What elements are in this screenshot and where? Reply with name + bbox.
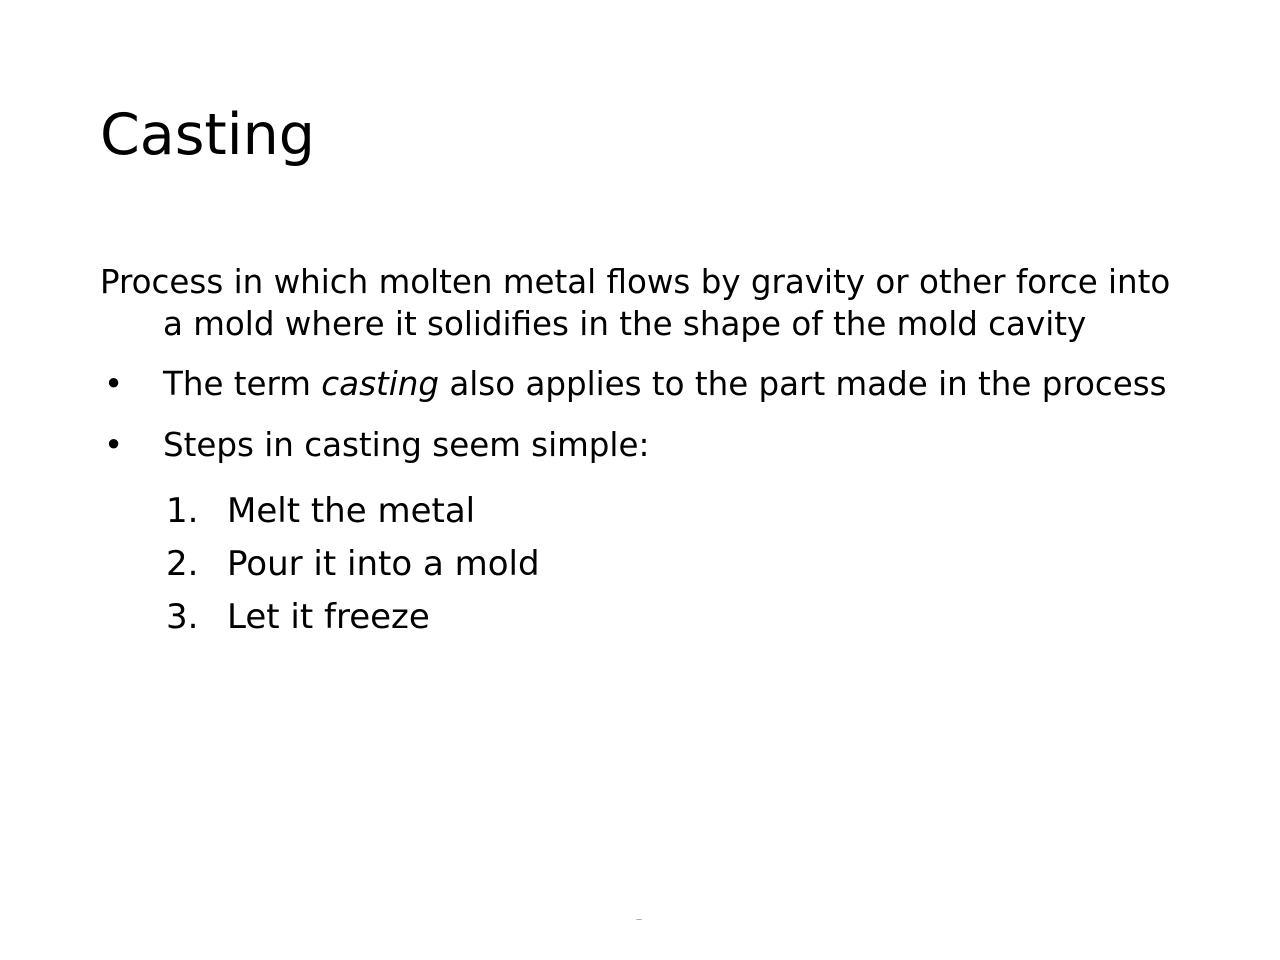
list-item: 2. Pour it into a mold xyxy=(100,538,1175,591)
list-item-italic-term: casting xyxy=(321,365,439,403)
body-paragraph: Process in which molten metal flows by g… xyxy=(100,262,1175,345)
slide-number-placeholder: – xyxy=(632,909,646,931)
list-item-label: The term casting also applies to the par… xyxy=(163,364,1175,406)
list-item: 3. Let it freeze xyxy=(100,591,1175,644)
page-title: Casting xyxy=(100,104,1180,168)
numbered-steps-list: 1. Melt the metal 2. Pour it into a mold… xyxy=(100,485,1175,644)
step-number: 2. xyxy=(166,538,218,591)
list-item: • Steps in casting seem simple: xyxy=(100,425,1175,467)
bullet-icon: • xyxy=(104,364,130,406)
list-item-text-after-italic: also applies to the part made in the pro… xyxy=(439,365,1167,403)
step-number: 3. xyxy=(166,591,218,644)
slide-body: Process in which molten metal flows by g… xyxy=(100,262,1175,644)
list-item-label: Steps in casting seem simple: xyxy=(163,425,1175,467)
step-label: Pour it into a mold xyxy=(227,538,1175,591)
list-item: • The term casting also applies to the p… xyxy=(100,364,1175,406)
step-label: Let it freeze xyxy=(227,591,1175,644)
step-number: 1. xyxy=(166,485,218,538)
step-label: Melt the metal xyxy=(227,485,1175,538)
bullet-icon: • xyxy=(104,425,130,467)
list-item-text-before-italic: The term xyxy=(163,365,321,403)
slide-canvas: Casting Process in which molten metal fl… xyxy=(0,0,1280,960)
list-item: 1. Melt the metal xyxy=(100,485,1175,538)
